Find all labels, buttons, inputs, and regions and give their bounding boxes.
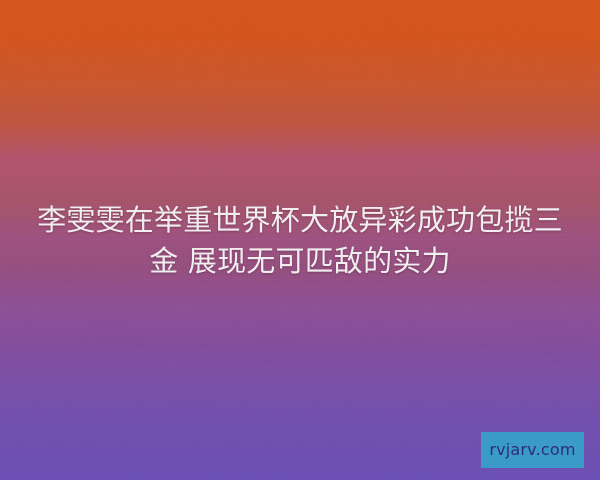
- hero-image-canvas: 李雯雯在举重世界杯大放异彩成功包揽三金 展现无可匹敌的实力 rvjarv.com: [0, 0, 600, 480]
- watermark-label: rvjarv.com: [489, 442, 575, 458]
- watermark-badge[interactable]: rvjarv.com: [481, 432, 584, 468]
- headline-text: 李雯雯在举重世界杯大放异彩成功包揽三金 展现无可匹敌的实力: [0, 200, 600, 282]
